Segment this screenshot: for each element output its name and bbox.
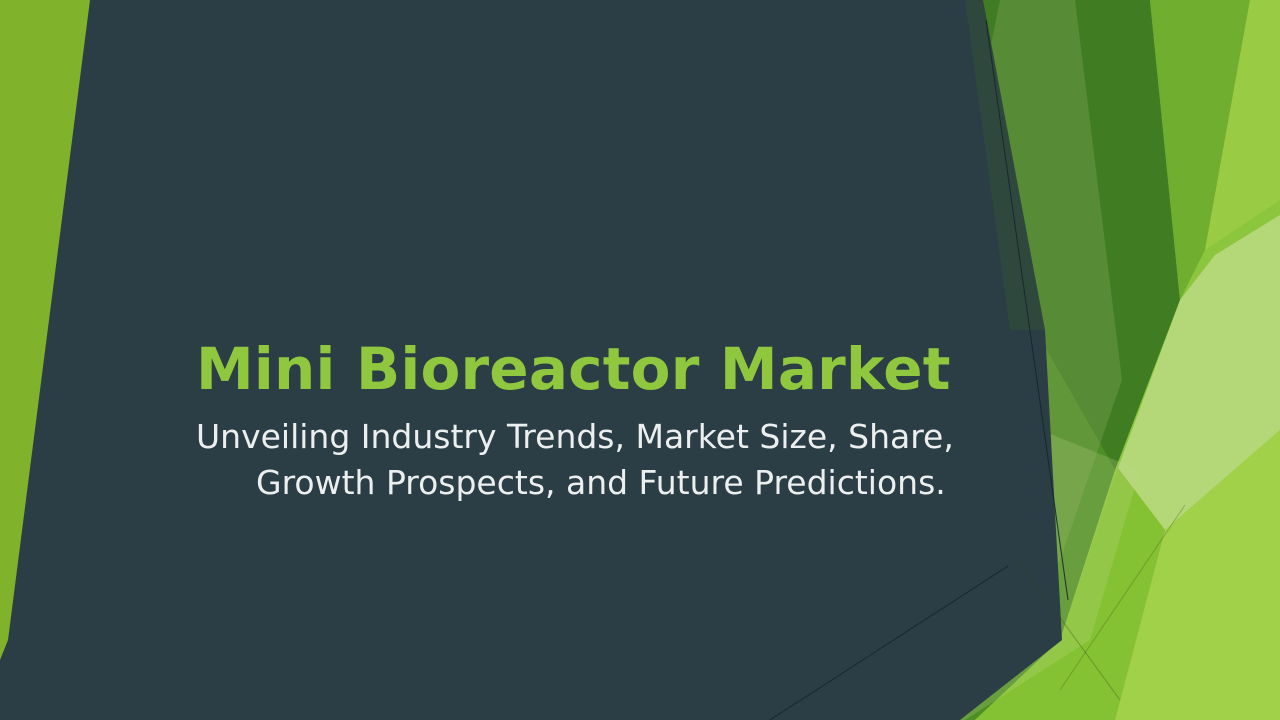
slide-subtitle: Unveiling Industry Trends, Market Size, … [196, 414, 1046, 506]
title-text-block: Mini Bioreactor Market Unveiling Industr… [196, 336, 986, 506]
presentation-slide: Mini Bioreactor Market Unveiling Industr… [0, 0, 1280, 720]
page-title: Mini Bioreactor Market [196, 336, 986, 402]
